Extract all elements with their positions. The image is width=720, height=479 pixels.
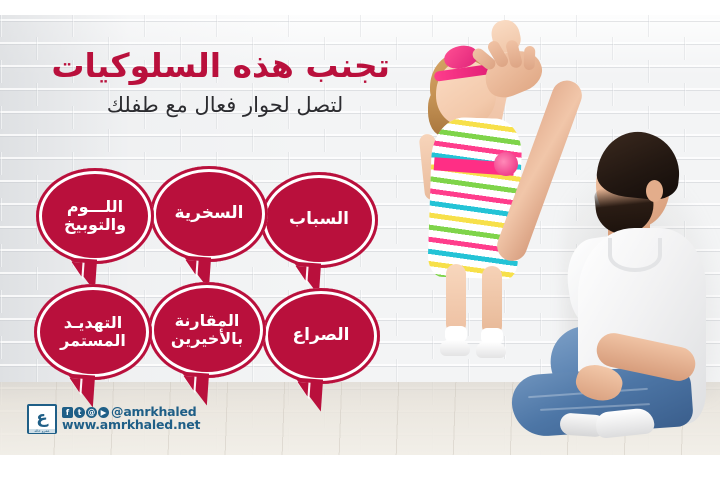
behaviors-bubble-group: السباب السخرية اللـــوم والتوبيخ الصراع <box>30 166 396 398</box>
girl-leg-right <box>482 266 502 336</box>
bubble-label: الصراع <box>262 288 380 384</box>
footer-branding[interactable]: ع عمرو خالد f t @ ▶ @amrkhaled www.amrkh… <box>27 404 200 434</box>
man-finger-4 <box>524 46 536 70</box>
headline-block: تجنب هذه السلوكيات لتصل لحوار فعال مع طف… <box>60 48 390 118</box>
page-subtitle: لتصل لحوار فعال مع طفلك <box>60 93 390 118</box>
bubble-comparison-with-others[interactable]: المقارنة بالأخيرين <box>148 282 266 378</box>
page-title: تجنب هذه السلوكيات <box>60 48 390 85</box>
bubble-conflict[interactable]: الصراع <box>262 288 380 384</box>
bubble-label: المقارنة بالأخيرين <box>148 282 266 378</box>
bubble-label: السخرية <box>150 166 268 262</box>
bubble-constant-threatening[interactable]: التهديـد المستمر <box>34 284 152 380</box>
social-handles: f t @ ▶ @amrkhaled www.amrkhaled.net <box>62 406 200 432</box>
girl-shoe-right <box>476 342 506 358</box>
bubble-label: اللـــوم والتوبيخ <box>36 168 154 264</box>
girl-leg-left <box>446 264 466 334</box>
man-ear <box>646 180 663 202</box>
man-hair <box>595 128 683 202</box>
amr-khaled-logo-icon[interactable]: ع عمرو خالد <box>27 404 57 434</box>
top-white-band <box>0 0 720 15</box>
bubble-label: التهديـد المستمر <box>34 284 152 380</box>
bubble-insults[interactable]: السباب <box>260 172 378 268</box>
man-shirt-collar <box>608 238 662 272</box>
family-photo <box>400 14 720 456</box>
poster-canvas: تجنب هذه السلوكيات لتصل لحوار فعال مع طف… <box>0 0 720 479</box>
website-url[interactable]: www.amrkhaled.net <box>62 419 200 432</box>
girl-shoe-left <box>440 340 470 356</box>
bubble-mockery[interactable]: السخرية <box>150 166 268 262</box>
girl-dress-flower <box>494 152 518 176</box>
logo-caption: عمرو خالد <box>29 429 55 433</box>
bubble-blame-and-reprimand[interactable]: اللـــوم والتوبيخ <box>36 168 154 264</box>
man-shoe-front <box>595 407 655 439</box>
bubble-label: السباب <box>260 172 378 268</box>
bottom-white-band <box>0 455 720 479</box>
logo-arabic-glyph: ع <box>36 410 48 427</box>
